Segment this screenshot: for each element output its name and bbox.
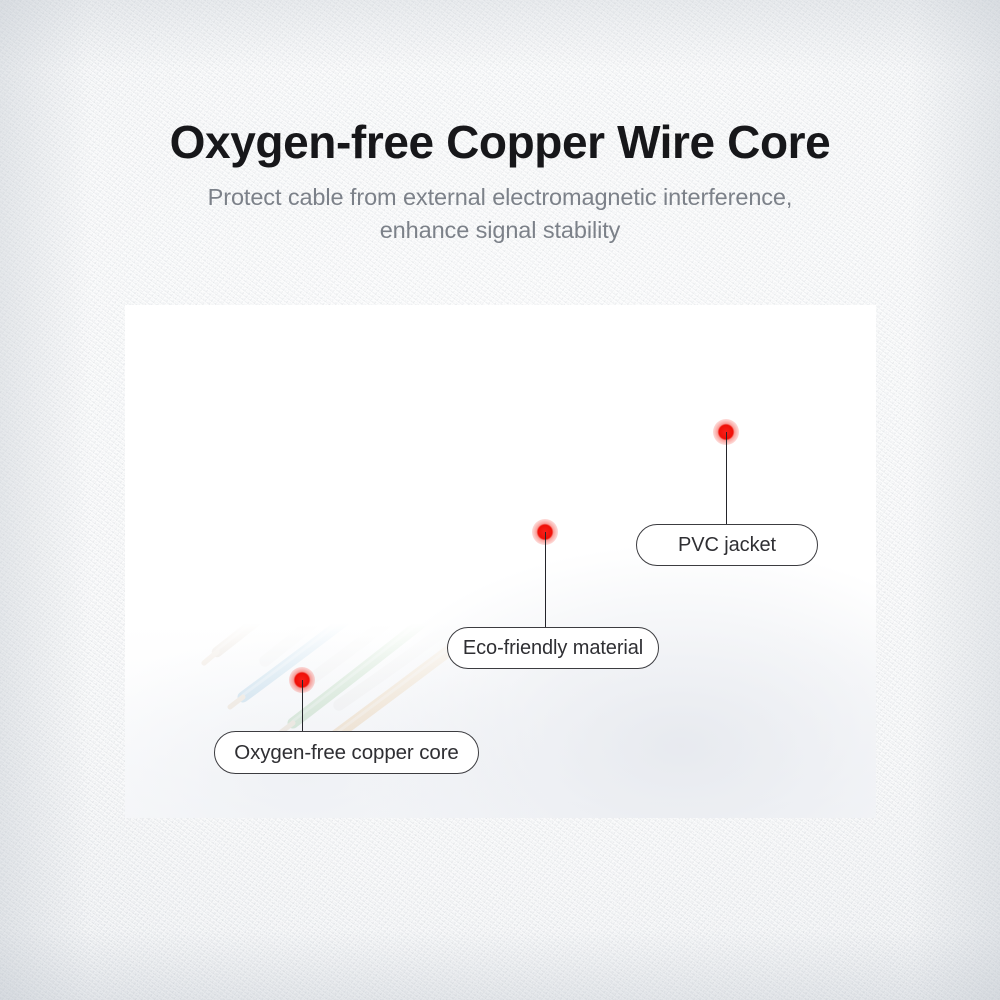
page-root: Oxygen-free Copper Wire Core Protect cab… bbox=[0, 0, 1000, 1000]
page-title: Oxygen-free Copper Wire Core bbox=[0, 118, 1000, 167]
leader-line-eco-friendly-material bbox=[545, 532, 547, 628]
jacket-top-face bbox=[582, 305, 876, 437]
page-subtitle-line-1: Protect cable from external electromagne… bbox=[0, 181, 1000, 214]
leader-line-oxygen-free-copper-core bbox=[302, 680, 304, 733]
page-subtitle: Protect cable from external electromagne… bbox=[0, 181, 1000, 248]
callout-label-eco-friendly-material[interactable]: Eco-friendly material bbox=[447, 627, 659, 669]
leader-line-pvc-jacket bbox=[726, 432, 728, 525]
heading-block: Oxygen-free Copper Wire Core Protect cab… bbox=[0, 118, 1000, 247]
callout-label-pvc-jacket[interactable]: PVC jacket bbox=[636, 524, 818, 566]
page-subtitle-line-2: enhance signal stability bbox=[0, 214, 1000, 247]
callout-label-oxygen-free-copper-core[interactable]: Oxygen-free copper core bbox=[214, 731, 479, 774]
